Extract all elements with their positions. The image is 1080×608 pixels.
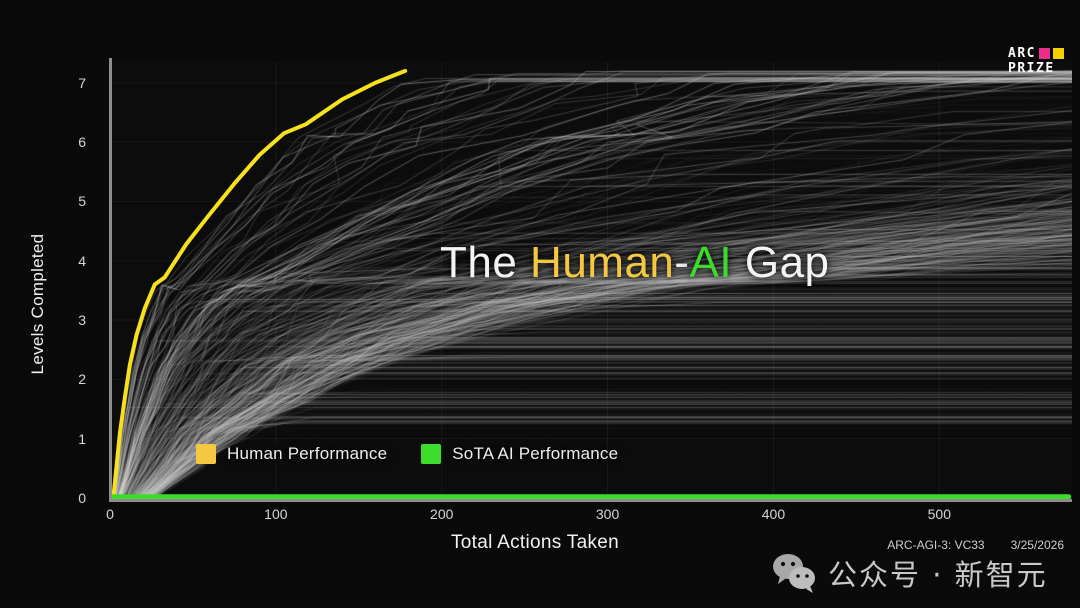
logo-row-prize: PRIZE — [1008, 62, 1064, 75]
x-axis-line — [109, 499, 1072, 502]
x-axis-title-text: Total Actions Taken — [451, 532, 619, 554]
footer-deck-id: ARC-AGI-3: VC33 — [887, 538, 984, 552]
slide-root: The Human-AI Gap 01234567 01002003004005… — [0, 0, 1080, 608]
legend-swatch-sota-ai — [421, 444, 441, 464]
y-axis-title: Levels Completed — [28, 194, 48, 414]
legend-label-human: Human Performance — [227, 444, 387, 464]
x-tick-label: 200 — [430, 506, 453, 522]
legend-swatch-human — [196, 444, 216, 464]
y-tick-label: 0 — [0, 490, 100, 506]
legend-label-sota-ai: SoTA AI Performance — [452, 444, 618, 464]
y-tick-label: 2 — [0, 371, 100, 387]
title-dash: - — [674, 238, 689, 287]
footer-meta: ARC-AGI-3: VC33 3/25/2026 — [887, 538, 1064, 552]
y-tick-label: 7 — [0, 75, 100, 91]
chart-plot-area: The Human-AI Gap — [110, 62, 1072, 498]
y-tick-label: 6 — [0, 134, 100, 150]
x-tick-label: 300 — [596, 506, 619, 522]
chart-legend: Human Performance SoTA AI Performance — [196, 444, 618, 464]
logo-square-yellow — [1053, 48, 1064, 59]
x-tick-label: 500 — [928, 506, 951, 522]
title-word-ai: AI — [690, 238, 733, 287]
title-word-the: The — [440, 238, 530, 287]
title-word-gap: Gap — [732, 238, 829, 287]
wechat-watermark: 公众号 · 新智元 — [772, 552, 1048, 594]
logo-row-arc: ARC — [1008, 47, 1064, 60]
legend-item-human-performance[interactable]: Human Performance — [196, 444, 387, 464]
y-tick-label: 1 — [0, 431, 100, 447]
x-tick-label: 0 — [106, 506, 114, 522]
footer-date: 3/25/2026 — [1011, 538, 1064, 552]
x-tick-label: 100 — [264, 506, 287, 522]
arc-prize-logo: ARC PRIZE — [1008, 47, 1064, 75]
y-axis-line — [109, 58, 112, 500]
wechat-icon — [772, 553, 818, 593]
y-tick-label: 4 — [0, 253, 100, 269]
title-word-human: Human — [530, 238, 674, 287]
human-performance-line — [113, 71, 405, 498]
logo-text-prize: PRIZE — [1008, 62, 1055, 75]
watermark-text: 公众号 · 新智元 — [828, 552, 1048, 594]
logo-text-arc: ARC — [1008, 47, 1036, 60]
legend-item-sota-ai-performance[interactable]: SoTA AI Performance — [421, 444, 618, 464]
chart-title: The Human-AI Gap — [440, 238, 830, 288]
y-tick-label: 3 — [0, 312, 100, 328]
y-tick-label: 5 — [0, 193, 100, 209]
x-tick-label: 400 — [762, 506, 785, 522]
logo-square-magenta — [1039, 48, 1050, 59]
